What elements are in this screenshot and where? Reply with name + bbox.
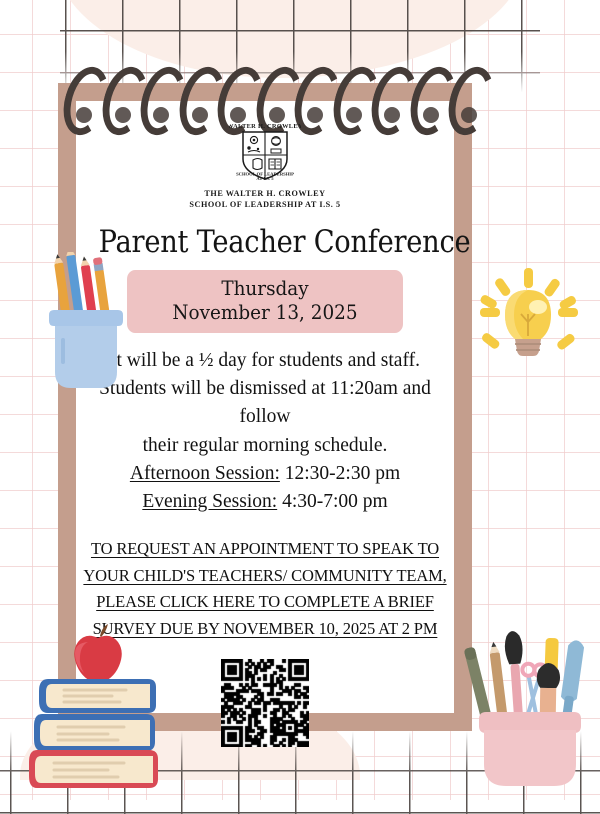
- date-banner-day: Thursday: [127, 277, 403, 301]
- evening-session-label: Evening Session:: [142, 491, 277, 512]
- survey-link-line1[interactable]: TO REQUEST AN APPOINTMENT TO SPEAK TO: [76, 536, 454, 563]
- svg-text:WALTER H. CROWLEY: WALTER H. CROWLEY: [229, 123, 301, 130]
- pen-icon: [558, 639, 585, 722]
- pencil-jar-icon: [32, 252, 140, 392]
- date-banner: Thursday November 13, 2025: [127, 270, 403, 333]
- body-line-3: their regular morning schedule.: [76, 432, 454, 460]
- afternoon-session-label: Afternoon Session:: [130, 463, 280, 484]
- school-name: THE WALTER H. CROWLEY SCHOOL OF LEADERSH…: [76, 188, 454, 210]
- page-title: Parent Teacher Conference: [99, 224, 432, 260]
- survey-link-line3[interactable]: PLEASE CLICK HERE TO COMPLETE A BRIEF: [76, 589, 454, 616]
- afternoon-session-row: Afternoon Session: 12:30-2:30 pm: [76, 460, 454, 488]
- svg-text:AT I.S. 5: AT I.S. 5: [256, 176, 274, 181]
- book-middle: [34, 714, 155, 751]
- apple-icon: [74, 624, 122, 684]
- book-bottom: [29, 750, 158, 788]
- qr-code-icon[interactable]: [221, 659, 309, 747]
- date-banner-date: November 13, 2025: [127, 301, 403, 325]
- survey-link-line2[interactable]: YOUR CHILD'S TEACHERS/ COMMUNITY TEAM,: [76, 563, 454, 590]
- school-crest-icon: WALTER H. CROWLEY SCHOOL OF LEADERSHIP A…: [229, 119, 301, 185]
- art-supplies-cup-icon: [458, 618, 600, 794]
- evening-session-row: Evening Session: 4:30-7:00 pm: [76, 488, 454, 516]
- afternoon-session-time: 12:30-2:30 pm: [280, 463, 400, 484]
- school-name-line1: THE WALTER H. CROWLEY: [76, 188, 454, 199]
- book-stack-icon: [22, 622, 167, 794]
- lightbulb-icon: [472, 266, 584, 374]
- book-top: [39, 679, 156, 713]
- evening-session-time: 4:30-7:00 pm: [277, 491, 388, 512]
- school-name-line2: SCHOOL OF LEADERSHIP AT I.S. 5: [76, 199, 454, 210]
